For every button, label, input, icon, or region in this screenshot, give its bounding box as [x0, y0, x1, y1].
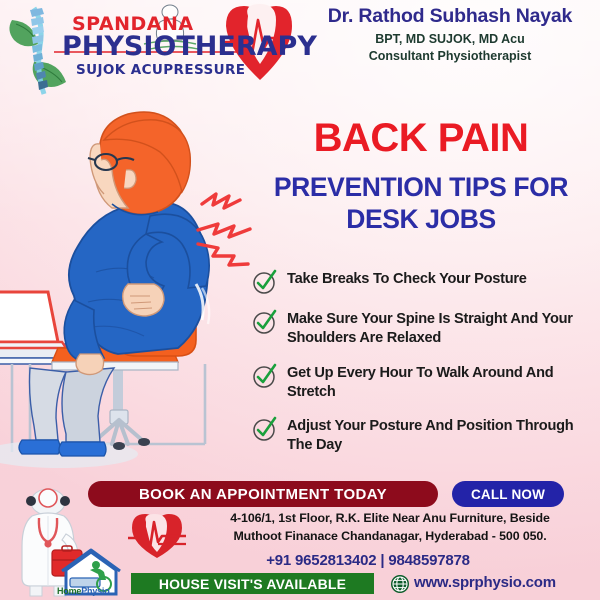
call-now-label: CALL NOW — [471, 487, 545, 502]
phone-numbers[interactable]: +91 9652813402 | 9848597878 — [150, 552, 586, 569]
check-circle-icon — [252, 363, 278, 389]
house-visit-label: HOUSE VISIT'S AVAILABLE — [159, 576, 346, 592]
home-physio-name-part2: Physio — [81, 586, 109, 596]
house-visit-badge: HOUSE VISIT'S AVAILABLE — [131, 573, 374, 594]
tip-text: Adjust Your Posture And Position Through… — [287, 415, 600, 456]
tip-text: Take Breaks To Check Your Posture — [287, 268, 527, 289]
tip-item: Adjust Your Posture And Position Through… — [252, 415, 600, 456]
call-now-button[interactable]: CALL NOW — [452, 481, 564, 507]
tips-list: Take Breaks To Check Your Posture Make S… — [252, 268, 600, 469]
address-line-1: 4-106/1, 1st Floor, R.K. Elite Near Anu … — [190, 510, 590, 528]
check-circle-icon — [252, 309, 278, 335]
headline-subtitle-line1: PREVENTION TIPS FOR — [248, 171, 594, 203]
headline-title: BACK PAIN — [248, 118, 594, 158]
book-appointment-button[interactable]: BOOK AN APPOINTMENT TODAY — [88, 481, 438, 507]
website-link[interactable]: www.sprphysio.com — [414, 574, 556, 591]
tip-text: Get Up Every Hour To Walk Around And Str… — [287, 362, 600, 403]
doctor-name: Dr. Rathod Subhash Nayak — [300, 5, 600, 27]
logo-line-sujok: SUJOK ACUPRESSURE — [62, 62, 292, 78]
headline-block: BACK PAIN PREVENTION TIPS FOR DESK JOBS — [248, 118, 594, 236]
address-line-2: Muthoot Finanace Chandanagar, Hyderabad … — [190, 528, 590, 546]
brand-logo: SPANDANA PHYSIOTHERAPY SUJOK ACUPRESSURE — [4, 2, 294, 102]
book-appointment-label: BOOK AN APPOINTMENT TODAY — [139, 486, 387, 503]
home-physio-wordmark: HomePhysio — [57, 586, 110, 596]
doctor-credentials: BPT, MD SUJOK, MD Acu — [300, 31, 600, 48]
home-physio-name-part1: Home — [57, 586, 81, 596]
logo-line-physiotherapy: PHYSIOTHERAPY — [62, 33, 292, 61]
doctor-info: Dr. Rathod Subhash Nayak BPT, MD SUJOK, … — [300, 5, 600, 65]
spine-icon — [30, 8, 48, 94]
address-block: 4-106/1, 1st Floor, R.K. Elite Near Anu … — [128, 510, 600, 546]
tip-item: Make Sure Your Spine Is Straight And You… — [252, 308, 600, 349]
tip-item: Take Breaks To Check Your Posture — [252, 268, 600, 295]
tip-text: Make Sure Your Spine Is Straight And You… — [287, 308, 600, 349]
globe-icon — [390, 574, 410, 594]
doctor-role: Consultant Physiotherapist — [300, 48, 600, 65]
tip-item: Get Up Every Hour To Walk Around And Str… — [252, 362, 600, 403]
check-circle-icon — [252, 269, 278, 295]
check-circle-icon — [252, 416, 278, 442]
back-pain-illustration — [0, 96, 250, 496]
poster-canvas: SPANDANA PHYSIOTHERAPY SUJOK ACUPRESSURE… — [0, 0, 600, 600]
headline-subtitle-line2: DESK JOBS — [248, 203, 594, 235]
logo-wordmark: SPANDANA PHYSIOTHERAPY SUJOK ACUPRESSURE — [62, 15, 292, 78]
